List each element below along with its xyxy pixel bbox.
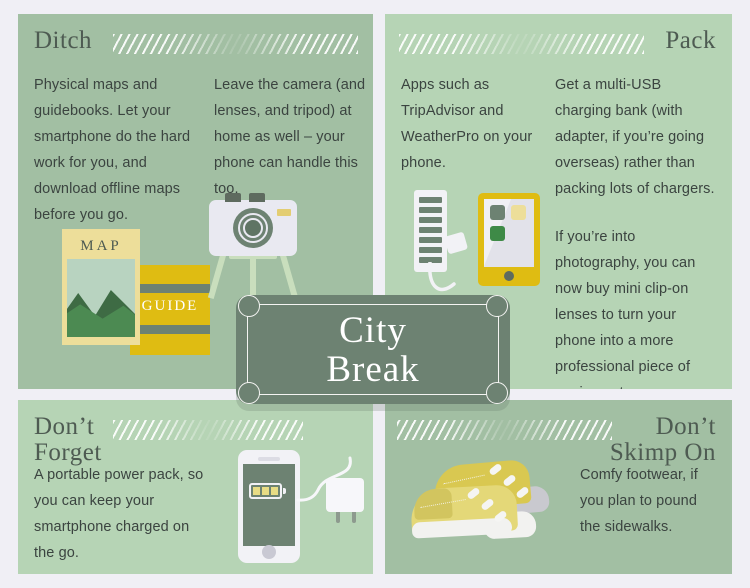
hatch-decoration-icon	[113, 420, 303, 440]
usb-port	[419, 217, 442, 223]
phone-speaker	[258, 457, 280, 461]
usb-port	[419, 197, 442, 203]
battery-bar	[262, 487, 269, 495]
tripod-leg-right	[279, 251, 298, 299]
battery-terminal	[283, 488, 286, 494]
battery-icon	[249, 483, 282, 499]
dont-forget-text: A portable power pack, so you can keep y…	[34, 462, 209, 566]
hatch-decoration-icon	[397, 420, 612, 440]
camera-shutter-icon	[249, 193, 265, 202]
camera-viewfinder-icon	[225, 193, 241, 202]
dont-skimp-on-text: Comfy footwear, if you plan to pound the…	[580, 462, 720, 540]
tablet-icon	[478, 193, 540, 286]
battery-bar	[271, 487, 278, 495]
hatch-decoration-icon	[113, 34, 358, 54]
app-icon-grey	[490, 205, 505, 220]
camera-body	[209, 200, 297, 256]
camera-lens-inner	[243, 218, 263, 238]
map-book-icon: MAP	[62, 229, 140, 345]
map-mountain-picture	[67, 259, 135, 337]
guide-band-bottom	[130, 325, 210, 334]
pack-text-2: Get a multi-USB charging bank (with adap…	[555, 72, 721, 202]
guide-book-icon: GUIDE	[130, 265, 210, 355]
app-icon-yellow	[511, 205, 526, 220]
dont-skimp-on-column: Comfy footwear, if you plan to pound the…	[580, 462, 720, 562]
usb-port	[419, 227, 442, 233]
hatch-decoration-icon	[399, 34, 644, 54]
panel-dont-skimp-on-heading: Don’t Skimp On	[610, 414, 716, 467]
tablet-screen	[484, 199, 534, 267]
camera-tripod-icon	[203, 200, 303, 298]
dont-forget-column: A portable power pack, so you can keep y…	[34, 462, 209, 574]
city-break-badge: City Break	[236, 295, 510, 404]
pack-column-2: Get a multi-USB charging bank (with adap…	[555, 72, 721, 389]
phone-screen	[243, 464, 295, 546]
usb-port	[419, 237, 442, 243]
pack-text-3: If you’re into photography, you can now …	[555, 224, 721, 389]
usb-charging-bank-icon	[414, 190, 447, 272]
guide-band-top	[130, 284, 210, 293]
guide-book-label: GUIDE	[130, 294, 210, 318]
battery-bar	[253, 487, 260, 495]
ditch-text-2: Leave the camera (and lenses, and tripod…	[214, 72, 373, 202]
charger-prong-right	[352, 512, 356, 523]
pack-text-1: Apps such as TripAdvisor and WeatherPro …	[401, 72, 541, 176]
camera-flash-icon	[277, 209, 291, 216]
infographic-board: Ditch Physical maps and guidebooks. Let …	[0, 0, 750, 588]
usb-port	[419, 207, 442, 213]
panel-pack-heading: Pack	[665, 28, 716, 54]
app-icon-green	[490, 226, 505, 241]
phone-home-button	[262, 545, 276, 559]
pack-column-1: Apps such as TripAdvisor and WeatherPro …	[401, 72, 541, 198]
ditch-text-1: Physical maps and guidebooks. Let your s…	[34, 72, 194, 228]
wall-charger-icon	[326, 478, 364, 512]
smartphone-icon	[238, 450, 300, 563]
map-book-label: MAP	[62, 235, 140, 257]
badge-title-text: City Break	[236, 311, 510, 389]
tablet-home-button	[504, 271, 514, 281]
charger-prong-left	[336, 512, 340, 523]
usb-port	[419, 247, 442, 253]
panel-ditch-heading: Ditch	[34, 28, 92, 54]
tripod-leg-left	[208, 251, 227, 299]
ditch-column-1: Physical maps and guidebooks. Let your s…	[34, 72, 194, 250]
panel-dont-forget-heading: Don’t Forget	[34, 414, 102, 467]
